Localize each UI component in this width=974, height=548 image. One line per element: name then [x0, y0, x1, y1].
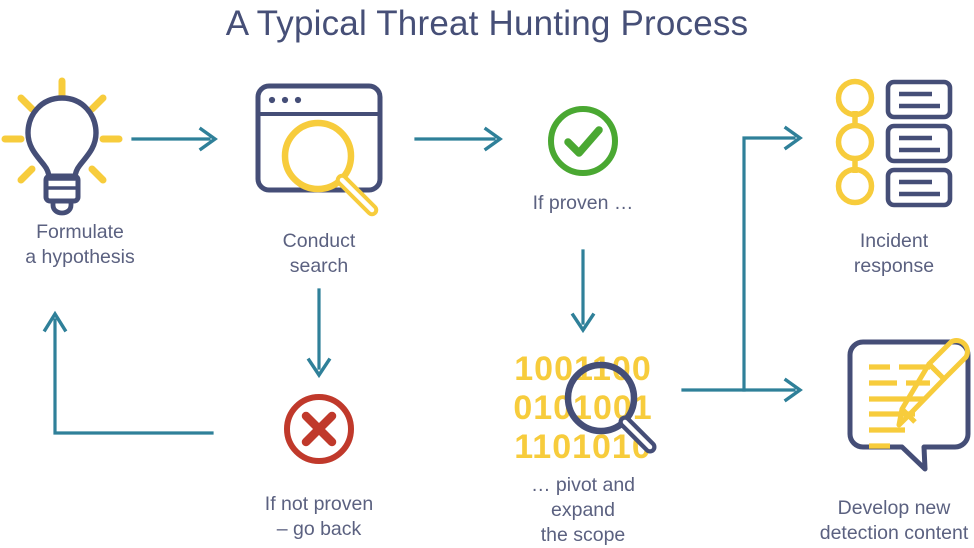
lightbulb-icon: [5, 81, 119, 213]
label-pivot-expand-scope: … pivot and expand the scope: [483, 473, 683, 548]
arrow-hypothesis-to-search: [133, 129, 215, 149]
arrow-notproven-back-to-hypothesis: [45, 314, 212, 433]
label-conduct-search: Conduct search: [219, 229, 419, 279]
check-circle-icon: [551, 109, 615, 173]
label-if-not-proven: If not proven – go back: [219, 492, 419, 542]
label-if-proven: If proven …: [483, 191, 683, 216]
speech-bubble-pencil-icon: [850, 341, 968, 469]
binary-magnifier-icon: 1001100 0101001 1101010: [513, 350, 652, 466]
browser-search-icon: [258, 86, 380, 210]
x-circle-icon: [287, 397, 351, 461]
label-incident-response: Incident response: [794, 229, 974, 279]
threat-hunting-diagram: A Typical Threat Hunting Process: [0, 0, 974, 546]
label-formulate-hypothesis: Formulate a hypothesis: [0, 220, 200, 270]
checklist-timeline-icon: [839, 82, 951, 206]
arrow-search-to-proven: [416, 129, 500, 149]
arrow-proven-to-pivot: [573, 251, 593, 330]
arrow-search-to-notproven: [309, 290, 329, 375]
label-develop-detection-content: Develop new detection content: [788, 496, 974, 546]
arrow-pivot-to-incident-and-develop: [683, 128, 800, 400]
